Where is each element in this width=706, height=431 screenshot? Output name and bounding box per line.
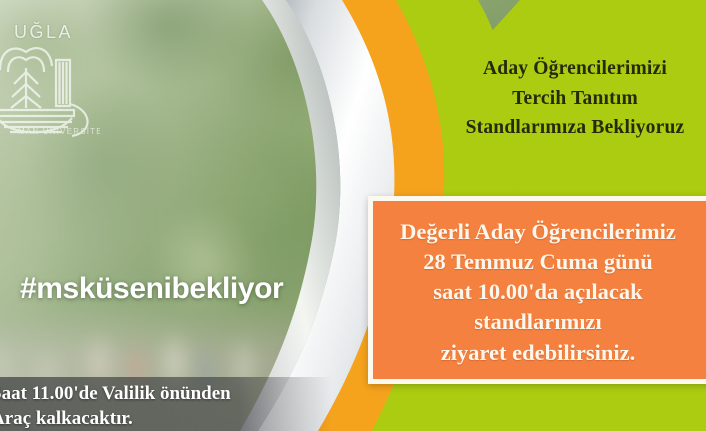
callout-line-1: Değerli Aday Öğrencilerimiz bbox=[373, 217, 703, 247]
headline-line-1: Aday Öğrencilerimizi bbox=[430, 54, 706, 84]
caption-line-1: Saat 11.00'de Valilik önünden bbox=[0, 381, 231, 406]
callout-text-block: Değerli Aday Öğrencilerimiz 28 Temmuz Cu… bbox=[373, 217, 703, 368]
university-logo: MAN ÜNİVERSİTESİ UĞLA bbox=[0, 14, 100, 138]
promotional-poster: MAN ÜNİVERSİTESİ UĞLA Aday Öğrencilerimi… bbox=[0, 0, 706, 431]
hashtag-text: #msküsenibekliyor bbox=[20, 272, 283, 306]
headline-line-2: Tercih Tanıtım bbox=[430, 84, 706, 114]
headline-line-3: Standlarımıza Bekliyoruz bbox=[430, 113, 706, 143]
caption-text-block: Saat 11.00'de Valilik önünden Araç kalka… bbox=[0, 381, 231, 431]
logo-subtext: MAN ÜNİVERSİTESİ bbox=[18, 127, 100, 136]
callout-line-4: standlarımızı bbox=[373, 307, 703, 337]
caption-line-2: Araç kalkacaktır. bbox=[0, 406, 231, 431]
caption-bar: Saat 11.00'de Valilik önünden Araç kalka… bbox=[0, 377, 332, 431]
logo-wordmark: UĞLA bbox=[14, 22, 73, 43]
callout-box: Değerli Aday Öğrencilerimiz 28 Temmuz Cu… bbox=[368, 196, 706, 384]
callout-line-2: 28 Temmuz Cuma günü bbox=[373, 247, 703, 277]
callout-line-3: saat 10.00'da açılacak bbox=[373, 277, 703, 307]
headline-block: Aday Öğrencilerimizi Tercih Tanıtım Stan… bbox=[430, 54, 706, 143]
callout-line-5: ziyaret edebilirsiniz. bbox=[373, 338, 703, 368]
